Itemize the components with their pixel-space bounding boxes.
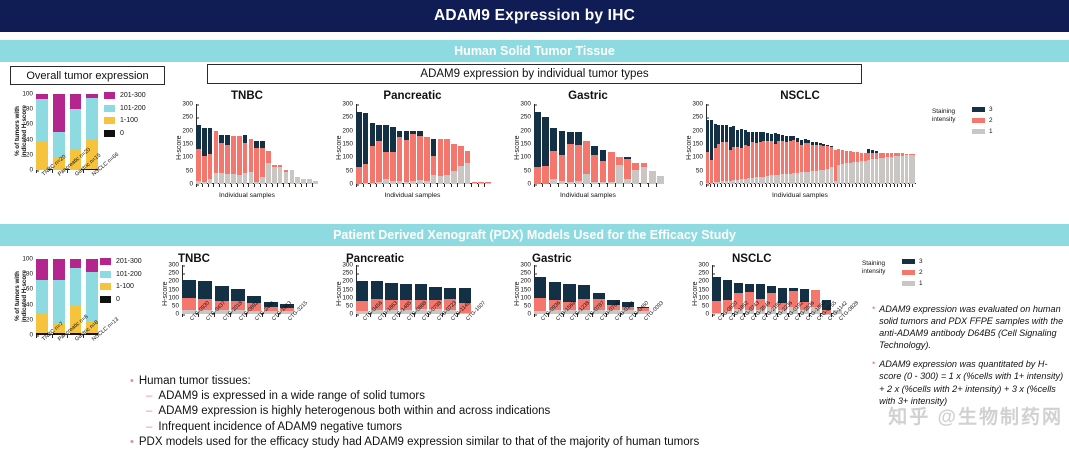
bar-segment-intensity-1 <box>770 175 773 184</box>
bar-segment-intensity-2 <box>237 136 242 175</box>
bar <box>632 104 639 184</box>
bar-segment-intensity-3 <box>404 131 410 140</box>
bar-segment-intensity-2 <box>729 150 732 180</box>
bar <box>815 104 818 184</box>
bar <box>841 104 844 184</box>
staining-legend-title-line2: intensity <box>932 116 966 124</box>
bar-segment-intensity-2 <box>721 142 724 181</box>
bar-segment-intensity-2 <box>219 143 224 173</box>
bar-segment-intensity-2 <box>363 164 369 184</box>
hscore-legend-item-101-200: 101-200 <box>100 271 142 278</box>
bar <box>567 104 574 184</box>
bar-segment-intensity-2 <box>575 145 582 181</box>
x-tick <box>464 184 471 187</box>
x-tick <box>567 184 575 187</box>
bar <box>583 104 590 184</box>
bar-segment-intensity-2 <box>770 141 773 175</box>
bar-segment-intensity-3 <box>231 289 245 301</box>
bar-segment-intensity-3 <box>225 135 230 144</box>
bar-segment-intensity-1 <box>759 177 762 184</box>
bar-segment-intensity-3 <box>770 134 773 141</box>
y-tick-label: 50 <box>346 167 356 174</box>
chart-gastric-human: Gastric050100150200250300H-scoreIndividu… <box>508 90 668 210</box>
x-tick <box>575 184 583 187</box>
plot-area: 020406080100 <box>36 259 98 335</box>
legend-swatch-icon <box>972 118 985 123</box>
bar-segment-intensity-3 <box>202 128 207 156</box>
y-tick-label: 300 <box>342 101 356 108</box>
bar-segment-intensity-1 <box>278 167 283 184</box>
page-title: ADAM9 Expression by IHC <box>0 0 1069 32</box>
bar-group <box>706 104 916 184</box>
bar-segment-intensity-2 <box>624 159 631 179</box>
legend-swatch-icon <box>100 296 111 303</box>
bar <box>845 104 848 184</box>
bar-segment-intensity-1 <box>807 172 810 184</box>
bar-segment-intensity-3 <box>762 132 765 141</box>
bar <box>272 104 277 184</box>
y-tick-label: 100 <box>342 294 356 301</box>
bar-segment-101-200 <box>86 98 98 140</box>
bullet-list-left: •Human tumor tissues:–ADAM9 is expressed… <box>130 374 860 450</box>
x-tick <box>417 184 424 187</box>
bar <box>208 104 213 184</box>
bar-segment-intensity-2 <box>725 142 728 181</box>
bar-segment-intensity-3 <box>756 284 765 299</box>
bar-segment-intensity-3 <box>534 112 541 167</box>
bar <box>755 104 758 184</box>
staining-legend-item-2: 2 <box>902 269 923 276</box>
y-tick-label: 300 <box>168 262 182 269</box>
staining-legend-label: 1 <box>989 128 993 135</box>
bar-segment-intensity-3 <box>747 132 750 146</box>
bar-segment-intensity-3 <box>710 120 713 160</box>
x-tick <box>457 184 464 187</box>
bar-segment-intensity-1 <box>431 175 437 184</box>
bar-segment-intensity-3 <box>712 277 721 301</box>
bar-segment-intensity-2 <box>214 131 219 173</box>
bar-segment-201-300 <box>53 259 65 280</box>
bar-segment-1-100 <box>36 313 48 334</box>
bar-segment-intensity-2 <box>856 152 859 162</box>
y-tick-label: 300 <box>698 262 712 269</box>
bar <box>624 104 631 184</box>
bar-segment-intensity-3 <box>725 125 728 143</box>
legend-swatch-icon <box>104 117 115 124</box>
x-tick <box>912 184 916 187</box>
bar-segment-intensity-2 <box>755 143 758 177</box>
bar-segment-intensity-2 <box>356 167 362 184</box>
y-tick-label: 200 <box>692 127 706 134</box>
bullet-item: •Human tumor tissues: <box>130 374 860 389</box>
bullet-marker-icon: • <box>130 435 134 450</box>
hscore-legend-label: 201-300 <box>120 92 146 99</box>
bar-segment-intensity-3 <box>431 139 437 156</box>
bar <box>860 104 863 184</box>
bar <box>789 104 792 184</box>
bar <box>894 104 897 184</box>
bar-segment-intensity-1 <box>284 172 289 184</box>
bar-segment-intensity-3 <box>356 281 368 302</box>
x-ticks <box>534 184 664 187</box>
bar-segment-intensity-3 <box>215 286 229 301</box>
bar-segment-intensity-3 <box>182 280 196 298</box>
bar <box>826 104 829 184</box>
bar-segment-intensity-3 <box>766 133 769 141</box>
bar <box>550 104 557 184</box>
bar-segment-intensity-2 <box>747 146 750 178</box>
bar <box>886 104 889 184</box>
legend-swatch-icon <box>100 258 111 265</box>
bar <box>542 104 549 184</box>
bar-segment-intensity-1 <box>819 170 822 184</box>
bar-segment-intensity-2 <box>867 153 870 160</box>
bar-segment-intensity-2 <box>777 141 780 175</box>
bar-segment-intensity-1 <box>451 171 457 184</box>
bar <box>356 265 368 314</box>
bar-segment-intensity-2 <box>789 141 792 174</box>
bar <box>744 104 747 184</box>
bar-segment-intensity-2 <box>404 140 410 182</box>
x-tick <box>376 184 383 187</box>
bar <box>777 104 780 184</box>
y-tick-label: 250 <box>698 270 712 277</box>
bar-segment-intensity-2 <box>608 152 615 182</box>
x-tick <box>397 184 404 187</box>
hscore-legend-label: 101-200 <box>116 271 142 278</box>
bar-segment-intensity-2 <box>837 149 840 165</box>
hscore-legend-bottom: 201-300101-2001-1000 <box>100 258 142 308</box>
bar-segment-intensity-2 <box>744 145 747 179</box>
bullet-text: ADAM9 expression was evaluated on human … <box>879 303 1066 351</box>
bullet-item: •ADAM9 expression was quantitated by H-s… <box>872 358 1066 406</box>
staining-legend-title: Stainingintensity <box>862 260 896 276</box>
bar <box>864 104 867 184</box>
bar <box>424 104 430 184</box>
bar-segment-intensity-3 <box>567 132 574 144</box>
bar-segment-intensity-1 <box>856 162 859 184</box>
bar-segment-intensity-3 <box>219 135 224 143</box>
y-tick-label: 250 <box>692 114 706 121</box>
bar-segment-intensity-1 <box>912 155 915 184</box>
bar-segment-intensity-1 <box>886 157 889 184</box>
y-tick-label: 150 <box>520 286 534 293</box>
bullet-text: Infrequent incidence of ADAM9 negative t… <box>158 420 402 435</box>
hscore-legend-item-1-100: 1-100 <box>100 283 142 290</box>
bar-segment-intensity-1 <box>295 177 300 184</box>
bar <box>909 104 912 184</box>
y-tick-label: 50 <box>524 302 534 309</box>
bar-segment-intensity-2 <box>266 151 271 163</box>
bar <box>729 104 732 184</box>
legend-swatch-icon <box>902 259 915 264</box>
hscore-legend-label: 101-200 <box>120 105 146 112</box>
y-axis-label: H-score <box>686 135 693 160</box>
bar-segment-intensity-2 <box>431 156 437 176</box>
y-axis-label: % of tumors with indicated H-score <box>14 96 28 166</box>
y-axis-label: H-score <box>692 281 699 306</box>
bar-group <box>534 104 664 184</box>
bar-segment-intensity-2 <box>208 154 213 179</box>
bar-segment-intensity-1 <box>826 169 829 184</box>
bar-segment-intensity-3 <box>800 289 809 302</box>
bar-segment-intensity-1 <box>237 175 242 184</box>
bar-segment-201-300 <box>86 259 98 272</box>
bar-segment-intensity-1 <box>266 163 271 184</box>
bar-segment-intensity-2 <box>732 147 735 181</box>
bar <box>608 104 615 184</box>
legend-swatch-icon <box>104 92 115 99</box>
bar-segment-intensity-1 <box>219 173 224 184</box>
bar-segment-intensity-3 <box>243 135 248 143</box>
bar-segment-101-200 <box>36 280 48 313</box>
y-tick-label: 250 <box>168 270 182 277</box>
bar-segment-101-200 <box>86 272 98 322</box>
bar-segment-intensity-3 <box>429 287 441 300</box>
bullet-list-right: •ADAM9 expression was evaluated on human… <box>872 303 1066 414</box>
bar-segment-intensity-2 <box>534 298 546 311</box>
bar-segment-intensity-2 <box>860 153 863 162</box>
hscore-legend-item-0: 0 <box>100 296 142 303</box>
staining-legend-title-line1: Staining <box>862 260 896 268</box>
y-axis-label: H-score <box>176 135 183 160</box>
bar-segment-intensity-2 <box>751 142 754 177</box>
bar-segment-101-200 <box>70 268 82 306</box>
bar-segment-intensity-2 <box>826 146 829 168</box>
legend-swatch-icon <box>100 283 111 290</box>
y-axis-label: H-score <box>162 281 169 306</box>
bar-segment-intensity-1 <box>909 155 912 184</box>
bar <box>747 104 750 184</box>
bar <box>762 104 765 184</box>
x-axis-caption: Individual samples <box>680 192 920 199</box>
x-tick <box>542 184 550 187</box>
bar <box>284 104 289 184</box>
bar-segment-201-300 <box>70 259 82 268</box>
bar <box>575 104 582 184</box>
bar-segment-intensity-2 <box>260 148 265 177</box>
chart-gastric-pdx: Gastric050100150200250300H-scoreCTG-0936… <box>508 253 653 348</box>
bar <box>301 104 306 184</box>
legend-swatch-icon <box>902 270 915 275</box>
bullet-marker-icon: – <box>146 404 152 419</box>
bar-segment-intensity-1 <box>785 174 788 184</box>
y-tick-label: 50 <box>346 302 356 309</box>
bar-segment-intensity-3 <box>721 125 724 142</box>
bar-segment-intensity-2 <box>864 153 867 160</box>
bar <box>260 104 265 184</box>
bar-segment-intensity-2 <box>811 145 814 172</box>
bar <box>796 104 799 184</box>
bar-segment-intensity-3 <box>755 132 758 143</box>
legend-swatch-icon <box>104 130 115 137</box>
bar-segment-intensity-2 <box>542 166 549 184</box>
y-tick-label: 200 <box>698 278 712 285</box>
bar <box>534 104 541 184</box>
bar-segment-intensity-3 <box>777 134 780 141</box>
y-tick-label: 200 <box>342 278 356 285</box>
bullet-marker-icon: – <box>146 420 152 435</box>
bar-segment-intensity-3 <box>706 120 709 152</box>
bar-segment-intensity-2 <box>182 298 196 310</box>
bar-segment-101-200 <box>53 280 65 325</box>
bullet-text: ADAM9 expression is highly heterogenous … <box>158 404 550 419</box>
bar-segment-intensity-1 <box>800 172 803 184</box>
bar-segment-intensity-2 <box>852 152 855 162</box>
y-tick-label: 200 <box>182 127 196 134</box>
bar-segment-intensity-1 <box>774 175 777 184</box>
bar <box>710 104 713 184</box>
bar-segment-intensity-2 <box>458 146 464 166</box>
y-tick-label: 50 <box>172 302 182 309</box>
bar-segment-intensity-3 <box>385 283 397 299</box>
bar-segment-intensity-3 <box>559 131 566 155</box>
y-tick-label: 100 <box>168 294 182 301</box>
bar-segment-intensity-3 <box>383 125 389 152</box>
y-tick-label: 300 <box>342 262 356 269</box>
bar-segment-intensity-1 <box>444 175 450 184</box>
bar <box>811 104 814 184</box>
bar-segment-intensity-3 <box>729 127 732 150</box>
x-tick <box>478 184 485 187</box>
bar-segment-intensity-2 <box>834 150 837 181</box>
bar-segment-intensity-1 <box>804 172 807 184</box>
hscore-legend-label: 1-100 <box>120 117 138 124</box>
bar-segment-intensity-1 <box>841 164 844 184</box>
bar <box>879 104 882 184</box>
bar-segment-intensity-1 <box>822 170 825 184</box>
bar-segment-intensity-3 <box>759 132 762 143</box>
bar-segment-intensity-2 <box>600 161 607 182</box>
staining-legend-label: 3 <box>919 258 923 265</box>
bar-segment-intensity-1 <box>879 158 882 184</box>
bar-segment-intensity-3 <box>208 128 213 154</box>
bar <box>849 104 852 184</box>
hscore-legend-label: 0 <box>120 130 124 137</box>
bar-segment-intensity-2 <box>356 301 368 310</box>
bar <box>875 104 878 184</box>
chart-nsclc-human: NSCLC050100150200250300H-scoreIndividual… <box>680 90 920 210</box>
bar-segment-intensity-3 <box>745 284 754 292</box>
bar <box>417 104 423 184</box>
bar-segment-intensity-2 <box>249 139 254 172</box>
bar-segment-intensity-1 <box>632 170 639 184</box>
x-ticks <box>706 184 916 187</box>
x-tick <box>437 184 444 187</box>
y-tick-label: 250 <box>182 114 196 121</box>
bullet-item: –ADAM9 is expressed in a wide range of s… <box>146 389 860 404</box>
bar <box>231 104 236 184</box>
bar-segment-intensity-2 <box>383 152 389 179</box>
bar-segment-intensity-1 <box>852 162 855 184</box>
bar-segment-intensity-1 <box>901 156 904 184</box>
bar <box>214 104 219 184</box>
y-axis-label: H-score <box>336 135 343 160</box>
bar <box>785 104 788 184</box>
bar <box>852 104 855 184</box>
y-tick-label: 100 <box>182 154 196 161</box>
x-ticks <box>196 184 318 187</box>
y-tick-label: 150 <box>520 141 534 148</box>
hscore-legend-item-1-100: 1-100 <box>104 117 146 124</box>
bar-segment-intensity-2 <box>202 156 207 182</box>
bar <box>390 104 396 184</box>
bar-segment-intensity-1 <box>875 159 878 184</box>
bar <box>451 104 457 184</box>
bar-segment-intensity-3 <box>376 125 382 141</box>
bar-segment-intensity-3 <box>714 124 717 147</box>
x-tick <box>451 184 458 187</box>
bar <box>290 104 295 184</box>
bar-segment-intensity-3 <box>534 277 546 298</box>
bullet-marker-icon: • <box>872 358 875 406</box>
bar-segment-201-300 <box>53 94 65 132</box>
bullet-marker-icon: • <box>872 303 875 351</box>
bar-segment-intensity-1 <box>249 172 254 184</box>
hscore-legend-label: 1-100 <box>116 283 134 290</box>
y-tick-label: 50 <box>186 167 196 174</box>
bar-segment-intensity-1 <box>762 177 765 184</box>
bar <box>591 104 598 184</box>
bar-segment-intensity-3 <box>549 282 561 300</box>
bar <box>307 104 312 184</box>
bar-segment-intensity-1 <box>882 158 885 184</box>
staining-legend-item-2: 2 <box>972 117 993 124</box>
hscore-legend-label: 0 <box>116 296 120 303</box>
x-axis-caption: Individual samples <box>330 192 495 199</box>
bar <box>397 104 403 184</box>
bar-segment-intensity-1 <box>225 174 230 184</box>
plot-area: 050100150200250300 <box>196 104 318 184</box>
bar-segment-101-200 <box>36 99 48 142</box>
chart-pancreatic-human: Pancreatic050100150200250300H-scoreIndiv… <box>330 90 495 210</box>
bar-segment-intensity-1 <box>243 173 248 184</box>
bullet-text: Human tumor tissues: <box>139 374 251 389</box>
bar <box>295 104 300 184</box>
bar-segment-intensity-1 <box>214 173 219 184</box>
bar <box>856 104 859 184</box>
bar-segment-1-100 <box>36 142 48 170</box>
legend-swatch-icon <box>100 271 111 278</box>
bar-segment-intensity-2 <box>819 145 822 170</box>
x-tick <box>424 184 431 187</box>
bar <box>278 104 283 184</box>
bullet-marker-icon: – <box>146 389 152 404</box>
bar-segment-intensity-1 <box>231 174 236 184</box>
y-tick-label: 150 <box>182 141 196 148</box>
y-axis-label: H-score <box>514 281 521 306</box>
x-tick <box>403 184 410 187</box>
staining-legend-item-1: 1 <box>972 128 993 135</box>
y-tick-label: 250 <box>342 114 356 121</box>
bar <box>237 104 242 184</box>
x-tick <box>484 184 491 187</box>
bullet-item: –ADAM9 expression is highly heterogenous… <box>146 404 860 419</box>
x-tick <box>607 184 615 187</box>
bullet-item: –Infrequent incidence of ADAM9 negative … <box>146 420 860 435</box>
bar-segment-intensity-2 <box>792 140 795 173</box>
bar-segment-intensity-2 <box>759 142 762 176</box>
bar-segment-intensity-2 <box>616 157 623 164</box>
bar <box>649 104 656 184</box>
x-tick <box>471 184 478 187</box>
bar-segment-intensity-3 <box>415 284 427 299</box>
bar-segment-intensity-2 <box>559 155 566 182</box>
bar <box>438 104 444 184</box>
x-tick <box>615 184 623 187</box>
bar-segment-intensity-3 <box>734 283 743 293</box>
bar-segment-intensity-3 <box>578 285 590 299</box>
